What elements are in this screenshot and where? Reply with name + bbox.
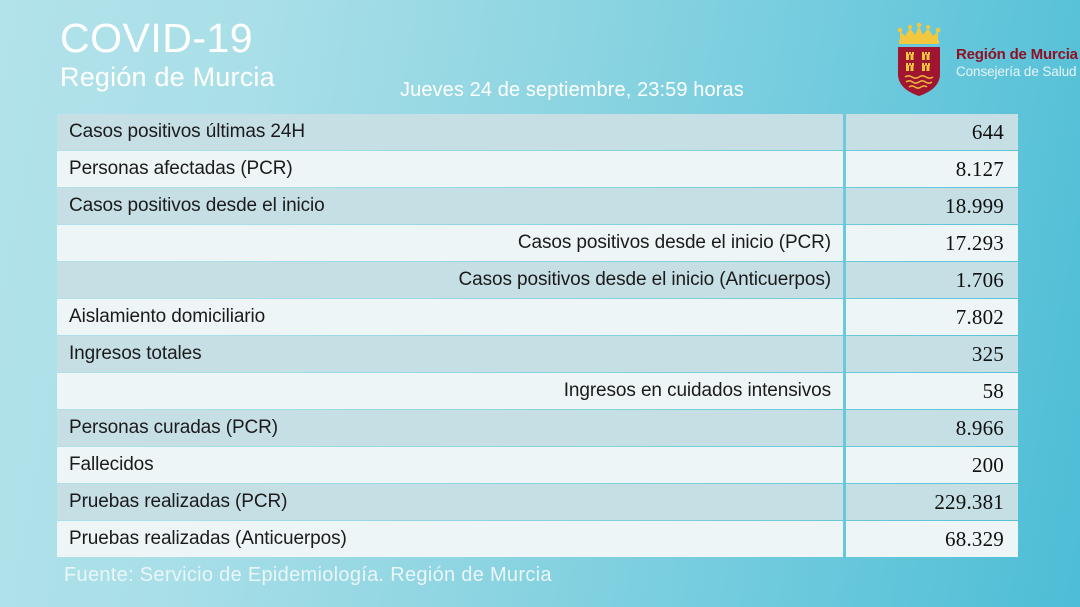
- row-value: 17.293: [846, 225, 1018, 261]
- table-row: Pruebas realizadas (Anticuerpos)68.329: [57, 521, 1018, 557]
- row-value: 200: [846, 447, 1018, 483]
- table-row: Ingresos totales325: [57, 336, 1018, 372]
- report-date: Jueves 24 de septiembre, 23:59 horas: [400, 79, 744, 102]
- row-value: 229.381: [846, 484, 1018, 520]
- covid-stats-slide: COVID-19 Región de Murcia Jueves 24 de s…: [0, 0, 1080, 607]
- table-row: Ingresos en cuidados intensivos58: [57, 373, 1018, 409]
- row-label: Personas afectadas (PCR): [57, 151, 843, 187]
- title-block: COVID-19 Región de Murcia: [60, 18, 275, 93]
- slide-header: COVID-19 Región de Murcia Jueves 24 de s…: [0, 0, 1080, 112]
- source-note: Fuente: Servicio de Epidemiología. Regió…: [64, 564, 552, 587]
- table-row: Personas curadas (PCR)8.966: [57, 410, 1018, 446]
- page-subtitle: Región de Murcia: [60, 62, 275, 93]
- region-de-murcia-logo: Región de Murcia Consejería de Salud: [888, 20, 1068, 100]
- row-label: Aislamiento domiciliario: [57, 299, 843, 335]
- row-value: 68.329: [846, 521, 1018, 557]
- logo-region-name: Región de Murcia: [956, 46, 1078, 64]
- row-label: Casos positivos últimas 24H: [57, 114, 843, 150]
- table-row: Aislamiento domiciliario7.802: [57, 299, 1018, 335]
- logo-department-name: Consejería de Salud: [956, 64, 1078, 80]
- row-label: Ingresos en cuidados intensivos: [57, 373, 843, 409]
- row-label: Ingresos totales: [57, 336, 843, 372]
- row-label: Fallecidos: [57, 447, 843, 483]
- row-label: Pruebas realizadas (Anticuerpos): [57, 521, 843, 557]
- table-row: Fallecidos200: [57, 447, 1018, 483]
- shield-icon: [888, 20, 950, 98]
- page-title: COVID-19: [60, 18, 275, 60]
- table-row: Casos positivos últimas 24H644: [57, 114, 1018, 150]
- row-value: 325: [846, 336, 1018, 372]
- logo-wordmark: Región de Murcia Consejería de Salud: [956, 46, 1078, 80]
- row-label: Casos positivos desde el inicio: [57, 188, 843, 224]
- covid-statistics-table: Casos positivos últimas 24H644Personas a…: [57, 114, 1018, 558]
- row-value: 18.999: [846, 188, 1018, 224]
- table-row: Pruebas realizadas (PCR)229.381: [57, 484, 1018, 520]
- table-row: Casos positivos desde el inicio (PCR)17.…: [57, 225, 1018, 261]
- row-value: 7.802: [846, 299, 1018, 335]
- row-label: Personas curadas (PCR): [57, 410, 843, 446]
- table-row: Casos positivos desde el inicio18.999: [57, 188, 1018, 224]
- row-label: Casos positivos desde el inicio (Anticue…: [57, 262, 843, 298]
- row-value: 644: [846, 114, 1018, 150]
- row-value: 58: [846, 373, 1018, 409]
- row-value: 8.966: [846, 410, 1018, 446]
- table-row: Casos positivos desde el inicio (Anticue…: [57, 262, 1018, 298]
- table-row: Personas afectadas (PCR)8.127: [57, 151, 1018, 187]
- row-label: Casos positivos desde el inicio (PCR): [57, 225, 843, 261]
- row-value: 8.127: [846, 151, 1018, 187]
- row-value: 1.706: [846, 262, 1018, 298]
- row-label: Pruebas realizadas (PCR): [57, 484, 843, 520]
